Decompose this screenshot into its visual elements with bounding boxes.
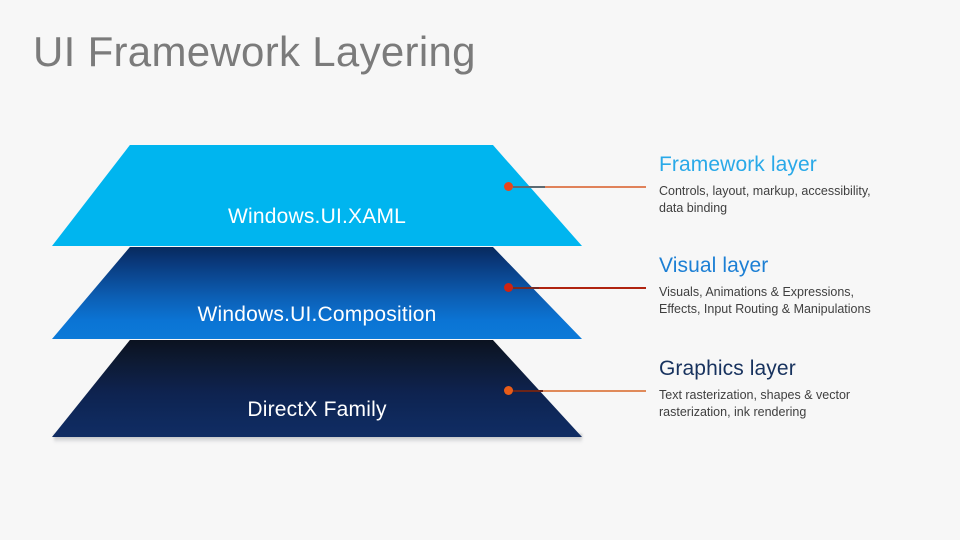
callout-connector-visual (504, 282, 646, 292)
callout-body-line: Visuals, Animations & Expressions, (659, 284, 949, 301)
callout-body-graphics: Text rasterization, shapes & vector rast… (659, 387, 949, 421)
connector-line (539, 287, 646, 289)
callout-body-line: data binding (659, 200, 949, 217)
connector-line (545, 186, 646, 188)
connector-line-overlap (513, 287, 539, 289)
trapezoid-graphics (52, 340, 582, 437)
callout-visual: Visual layer Visuals, Animations & Expre… (659, 254, 949, 318)
layer-label-framework: Windows.UI.XAML (52, 205, 582, 229)
connector-dot-icon (504, 182, 513, 191)
layer-label-visual: Windows.UI.Composition (52, 303, 582, 327)
callout-title-framework: Framework layer (659, 153, 949, 177)
trapezoid-framework (52, 145, 582, 246)
connector-line-overlap (513, 186, 545, 188)
callout-title-visual: Visual layer (659, 254, 949, 278)
callout-body-line: Controls, layout, markup, accessibility, (659, 183, 949, 200)
callout-body-visual: Visuals, Animations & Expressions, Effec… (659, 284, 949, 318)
callout-body-line: Text rasterization, shapes & vector (659, 387, 949, 404)
callout-framework: Framework layer Controls, layout, markup… (659, 153, 949, 217)
connector-dot-icon (504, 386, 513, 395)
layer-shape-visual[interactable]: Windows.UI.Composition (52, 247, 582, 339)
callout-body-framework: Controls, layout, markup, accessibility,… (659, 183, 949, 217)
page-title: UI Framework Layering (33, 28, 476, 76)
callout-body-line: rasterization, ink rendering (659, 404, 949, 421)
callout-graphics: Graphics layer Text rasterization, shape… (659, 357, 949, 421)
callout-title-graphics: Graphics layer (659, 357, 949, 381)
connector-line (543, 390, 646, 392)
callout-body-line: Effects, Input Routing & Manipulations (659, 301, 949, 318)
connector-dot-icon (504, 283, 513, 292)
slide-canvas: UI Framework Layering Windows.UI.XAML Wi… (0, 0, 960, 540)
layer-shape-graphics[interactable]: DirectX Family (52, 340, 582, 437)
callout-connector-framework (504, 181, 646, 191)
layer-label-graphics: DirectX Family (52, 398, 582, 422)
callout-connector-graphics (504, 385, 646, 395)
layer-shape-framework[interactable]: Windows.UI.XAML (52, 145, 582, 246)
connector-line-overlap (513, 390, 543, 392)
